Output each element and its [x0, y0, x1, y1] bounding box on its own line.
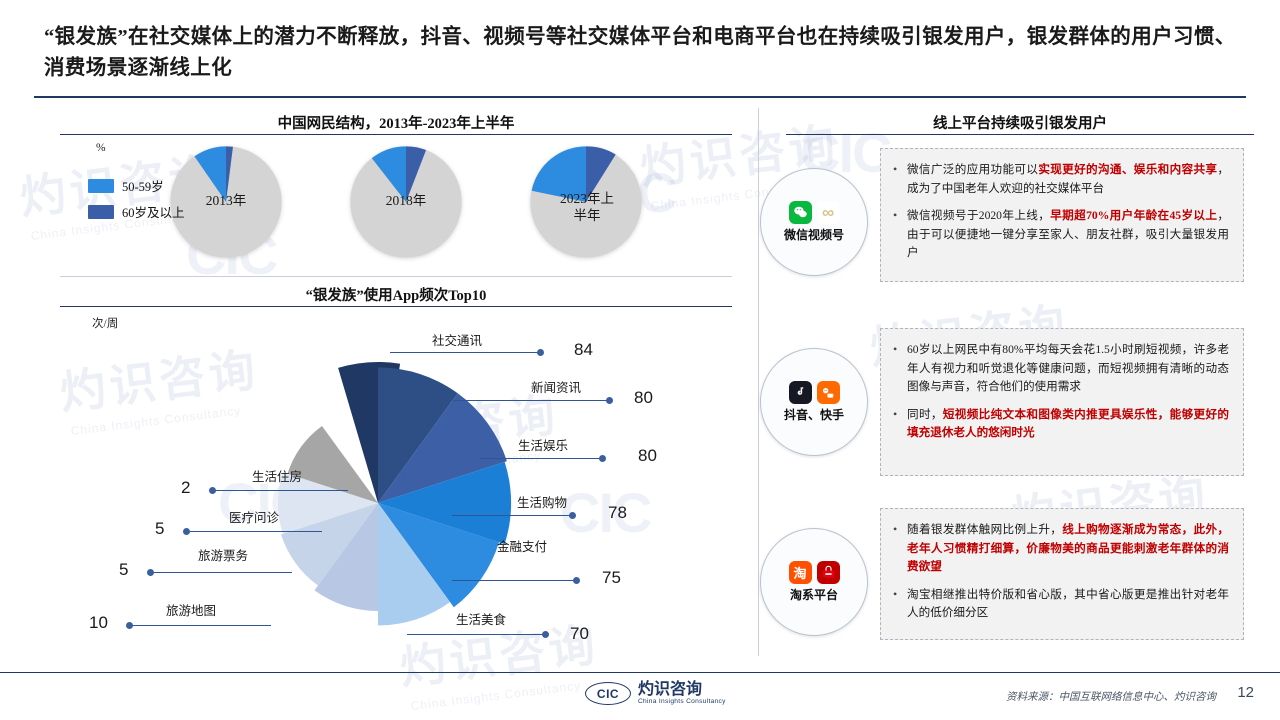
leader-dot: [537, 349, 544, 356]
leader-dot: [542, 631, 549, 638]
pie-label-2013: 2013年: [168, 192, 284, 209]
rose-label-medical: 医疗问诊: [229, 507, 279, 526]
platform-badge-label: 抖音、快手: [778, 408, 850, 423]
footer-divider: [0, 672, 1280, 673]
bullet-list: 随着银发群体触网比例上升，线上购物逐渐成为常态，此外，老年人习惯精打细算，价廉物…: [881, 509, 1243, 635]
platform-badge-douyin-kuaishou[interactable]: 抖音、快手: [760, 348, 868, 456]
leader-line: [452, 515, 572, 516]
pie-label-2018: 2018年: [348, 192, 464, 209]
taobao-icon: 淘: [789, 561, 812, 584]
leader-dot: [209, 487, 216, 494]
rose-value-news: 80: [634, 388, 653, 408]
platform-icons: ∞: [789, 201, 840, 224]
unit-label-times-per-week: 次/周: [92, 315, 118, 331]
page-number: 12: [1237, 684, 1254, 701]
platform-icons: [789, 381, 840, 404]
cic-logo-mark: CIC: [585, 682, 631, 705]
legend-swatch-50-59: [88, 179, 114, 193]
section-underline: [60, 306, 732, 307]
source-note: 资料来源：中国互联网络信息中心、灼识咨询: [1006, 689, 1216, 704]
rose-value-payment: 75: [602, 568, 621, 588]
platform-card-wechat: 微信广泛的应用功能可以实现更好的沟通、娱乐和内容共享，成为了中国老年人欢迎的社交…: [880, 148, 1244, 282]
section-underline: [60, 134, 732, 135]
leader-dot: [573, 577, 580, 584]
rose-value-travel-map: 10: [89, 613, 108, 633]
rose-value-social: 84: [574, 340, 593, 360]
rose-value-entertainment: 80: [638, 446, 657, 466]
rose-label-shopping: 生活购物: [517, 492, 567, 511]
leader-dot: [126, 622, 133, 629]
leader-line: [452, 580, 576, 581]
bullet-list: 微信广泛的应用功能可以实现更好的沟通、娱乐和内容共享，成为了中国老年人欢迎的社交…: [881, 149, 1243, 275]
platform-card-douyin-kuaishou: 60岁以上网民中有80%平均每天会花1.5小时刷短视频，许多老年人有视力和听觉退…: [880, 328, 1244, 476]
header-divider: [34, 96, 1246, 98]
wechat-icon: [789, 201, 812, 224]
leader-line: [390, 352, 540, 353]
legend-swatch-60plus: [88, 205, 114, 219]
section-underline: [786, 134, 1254, 135]
footer-logo: CIC 灼识咨询 China Insights Consultancy: [585, 682, 726, 705]
leader-line: [131, 625, 271, 626]
rose-label-news: 新闻资讯: [531, 377, 581, 396]
leader-dot: [183, 528, 190, 535]
tmall-icon: [817, 561, 840, 584]
rose-label-housing: 生活住房: [252, 466, 302, 485]
leader-dot: [147, 569, 154, 576]
leader-line: [407, 634, 545, 635]
leader-dot: [599, 455, 606, 462]
platform-icons: 淘: [789, 561, 840, 584]
section-title-online-platforms: 线上平台持续吸引银发用户: [786, 112, 1254, 133]
platform-badge-taobao[interactable]: 淘 淘系平台: [760, 528, 868, 636]
rose-label-travel-ticket: 旅游票务: [198, 545, 248, 564]
douyin-icon: [789, 381, 812, 404]
rose-value-medical: 5: [155, 519, 164, 539]
page-title: “银发族”在社交媒体上的潜力不断释放，抖音、视频号等社交媒体平台和电商平台也在持…: [44, 22, 1240, 84]
bullet-item: 同时，短视频比纯文本和图像类内推更具娱乐性，能够更好的填充退休老人的悠闲时光: [907, 406, 1229, 443]
leader-line: [152, 572, 292, 573]
rose-value-food: 70: [570, 624, 589, 644]
kuaishou-icon: [817, 381, 840, 404]
footer-logo-en: China Insights Consultancy: [638, 698, 726, 705]
bullet-item: 60岁以上网民中有80%平均每天会花1.5小时刷短视频，许多老年人有视力和听觉退…: [907, 341, 1229, 397]
rose-label-social: 社交通讯: [432, 330, 482, 349]
leader-dot: [606, 397, 613, 404]
rose-value-shopping: 78: [608, 503, 627, 523]
platform-badge-label: 微信视频号: [778, 228, 850, 243]
legend-label-50-59: 50-59岁: [122, 176, 164, 195]
bullet-item: 微信视频号于2020年上线，早期超70%用户年龄在45岁以上，由于可以便捷地一键…: [907, 207, 1229, 263]
footer-logo-cn: 灼识咨询: [638, 682, 726, 698]
rose-label-travel-map: 旅游地图: [166, 600, 216, 619]
section-title-app-frequency: “银发族”使用App频次Top10: [60, 284, 732, 305]
leader-dot: [569, 512, 576, 519]
panel-vertical-divider: [758, 108, 759, 656]
leader-line: [214, 490, 348, 491]
pie-label-2023h1: 2023年上 半年: [526, 190, 648, 224]
wechat-channels-icon: ∞: [817, 201, 840, 224]
rose-value-travel-ticket: 5: [119, 560, 128, 580]
leader-line: [453, 400, 609, 401]
section-title-netizen-structure: 中国网民结构，2013年-2023年上半年: [60, 112, 732, 133]
leader-line: [480, 458, 602, 459]
platform-card-taobao: 随着银发群体触网比例上升，线上购物逐渐成为常态，此外，老年人习惯精打细算，价廉物…: [880, 508, 1244, 640]
rose-label-food: 生活美食: [456, 609, 506, 628]
rose-label-entertainment: 生活娱乐: [518, 435, 568, 454]
bullet-item: 微信广泛的应用功能可以实现更好的沟通、娱乐和内容共享，成为了中国老年人欢迎的社交…: [907, 161, 1229, 198]
bullet-item: 随着银发群体触网比例上升，线上购物逐渐成为常态，此外，老年人习惯精打细算，价廉物…: [907, 521, 1229, 577]
footer-logo-text: 灼识咨询 China Insights Consultancy: [638, 682, 726, 705]
left-panel-divider: [60, 276, 732, 277]
unit-label-percent: %: [96, 142, 106, 154]
platform-badge-wechat[interactable]: ∞ 微信视频号: [760, 168, 868, 276]
bullet-item: 淘宝相继推出特价版和省心版，其中省心版更是推出针对老年人的低价细分区: [907, 586, 1229, 623]
leader-line: [188, 531, 322, 532]
rose-label-payment: 金融支付: [497, 536, 547, 555]
platform-badge-label: 淘系平台: [784, 588, 844, 603]
rose-value-housing: 2: [181, 478, 190, 498]
bullet-list: 60岁以上网民中有80%平均每天会花1.5小时刷短视频，许多老年人有视力和听觉退…: [881, 329, 1243, 455]
